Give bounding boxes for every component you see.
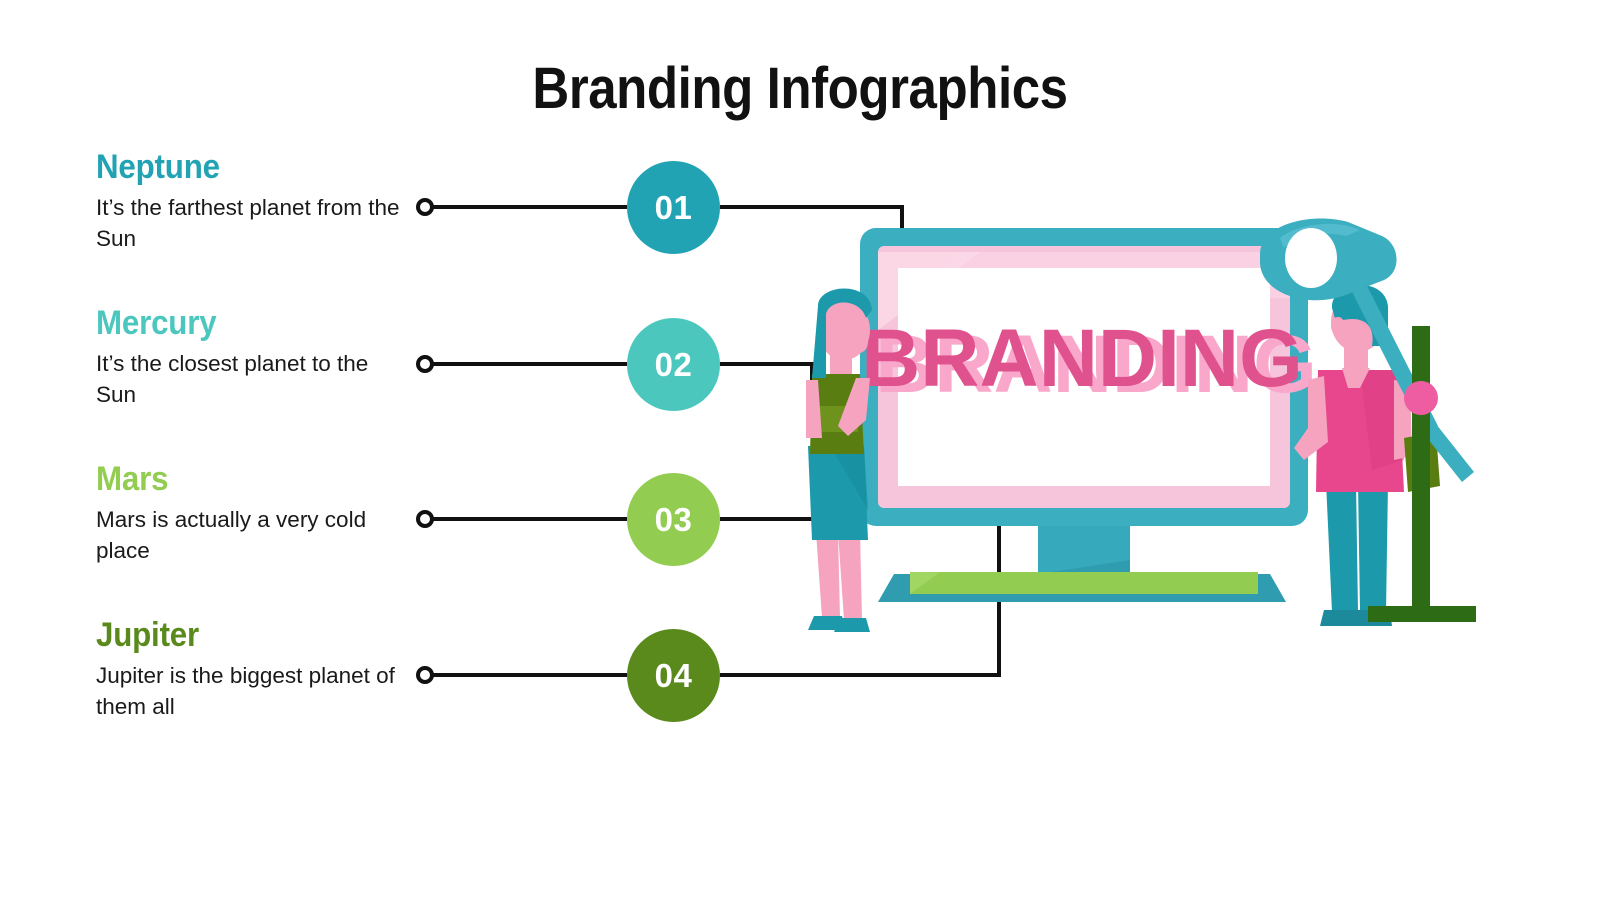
page-title: Branding Infographics	[96, 55, 1504, 122]
lamp-joint	[1404, 381, 1438, 415]
connector-dot-01-left	[418, 200, 432, 214]
woman-shoe-front	[834, 618, 870, 632]
branding-illustration: BRANDING BRANDING	[760, 210, 1520, 680]
lamp-stand-base	[1368, 606, 1476, 622]
connector-dot-04-left	[418, 668, 432, 682]
monitor-base-accent	[910, 572, 1258, 594]
item-description-neptune: It’s the farthest planet from the Sun	[96, 193, 406, 255]
monitor-illustration: BRANDING BRANDING	[860, 228, 1317, 602]
item-title-neptune: Neptune	[96, 148, 381, 187]
number-circle-04[interactable]: 04	[627, 629, 720, 722]
list-item: Neptune It’s the farthest planet from th…	[96, 148, 406, 255]
number-circle-02[interactable]: 02	[627, 318, 720, 411]
woman-character	[806, 289, 872, 633]
item-description-jupiter: Jupiter is the biggest planet of them al…	[96, 661, 406, 723]
connector-dot-02-left	[418, 357, 432, 371]
lamp-bulb-opening	[1285, 228, 1337, 288]
lamp-stand-pole	[1412, 326, 1430, 616]
list-item: Mercury It’s the closest planet to the S…	[96, 304, 406, 411]
item-title-jupiter: Jupiter	[96, 616, 381, 655]
screen-text: BRANDING	[861, 313, 1303, 404]
man-leg-back	[1326, 482, 1358, 612]
woman-hand	[850, 331, 868, 353]
woman-leg-front	[838, 532, 862, 620]
woman-leg-back	[816, 532, 840, 618]
item-title-mars: Mars	[96, 460, 381, 499]
connector-dot-03-left	[418, 512, 432, 526]
number-circle-01[interactable]: 01	[627, 161, 720, 254]
man-ear	[1331, 317, 1345, 335]
item-description-mars: Mars is actually a very cold place	[96, 505, 406, 567]
list-item: Jupiter Jupiter is the biggest planet of…	[96, 616, 406, 723]
item-description-mercury: It’s the closest planet to the Sun	[96, 349, 406, 411]
man-shoe-back	[1320, 610, 1360, 626]
list-item: Mars Mars is actually a very cold place	[96, 460, 406, 567]
item-title-mercury: Mercury	[96, 304, 381, 343]
number-circle-03[interactable]: 03	[627, 473, 720, 566]
man-leg-front	[1358, 482, 1388, 612]
